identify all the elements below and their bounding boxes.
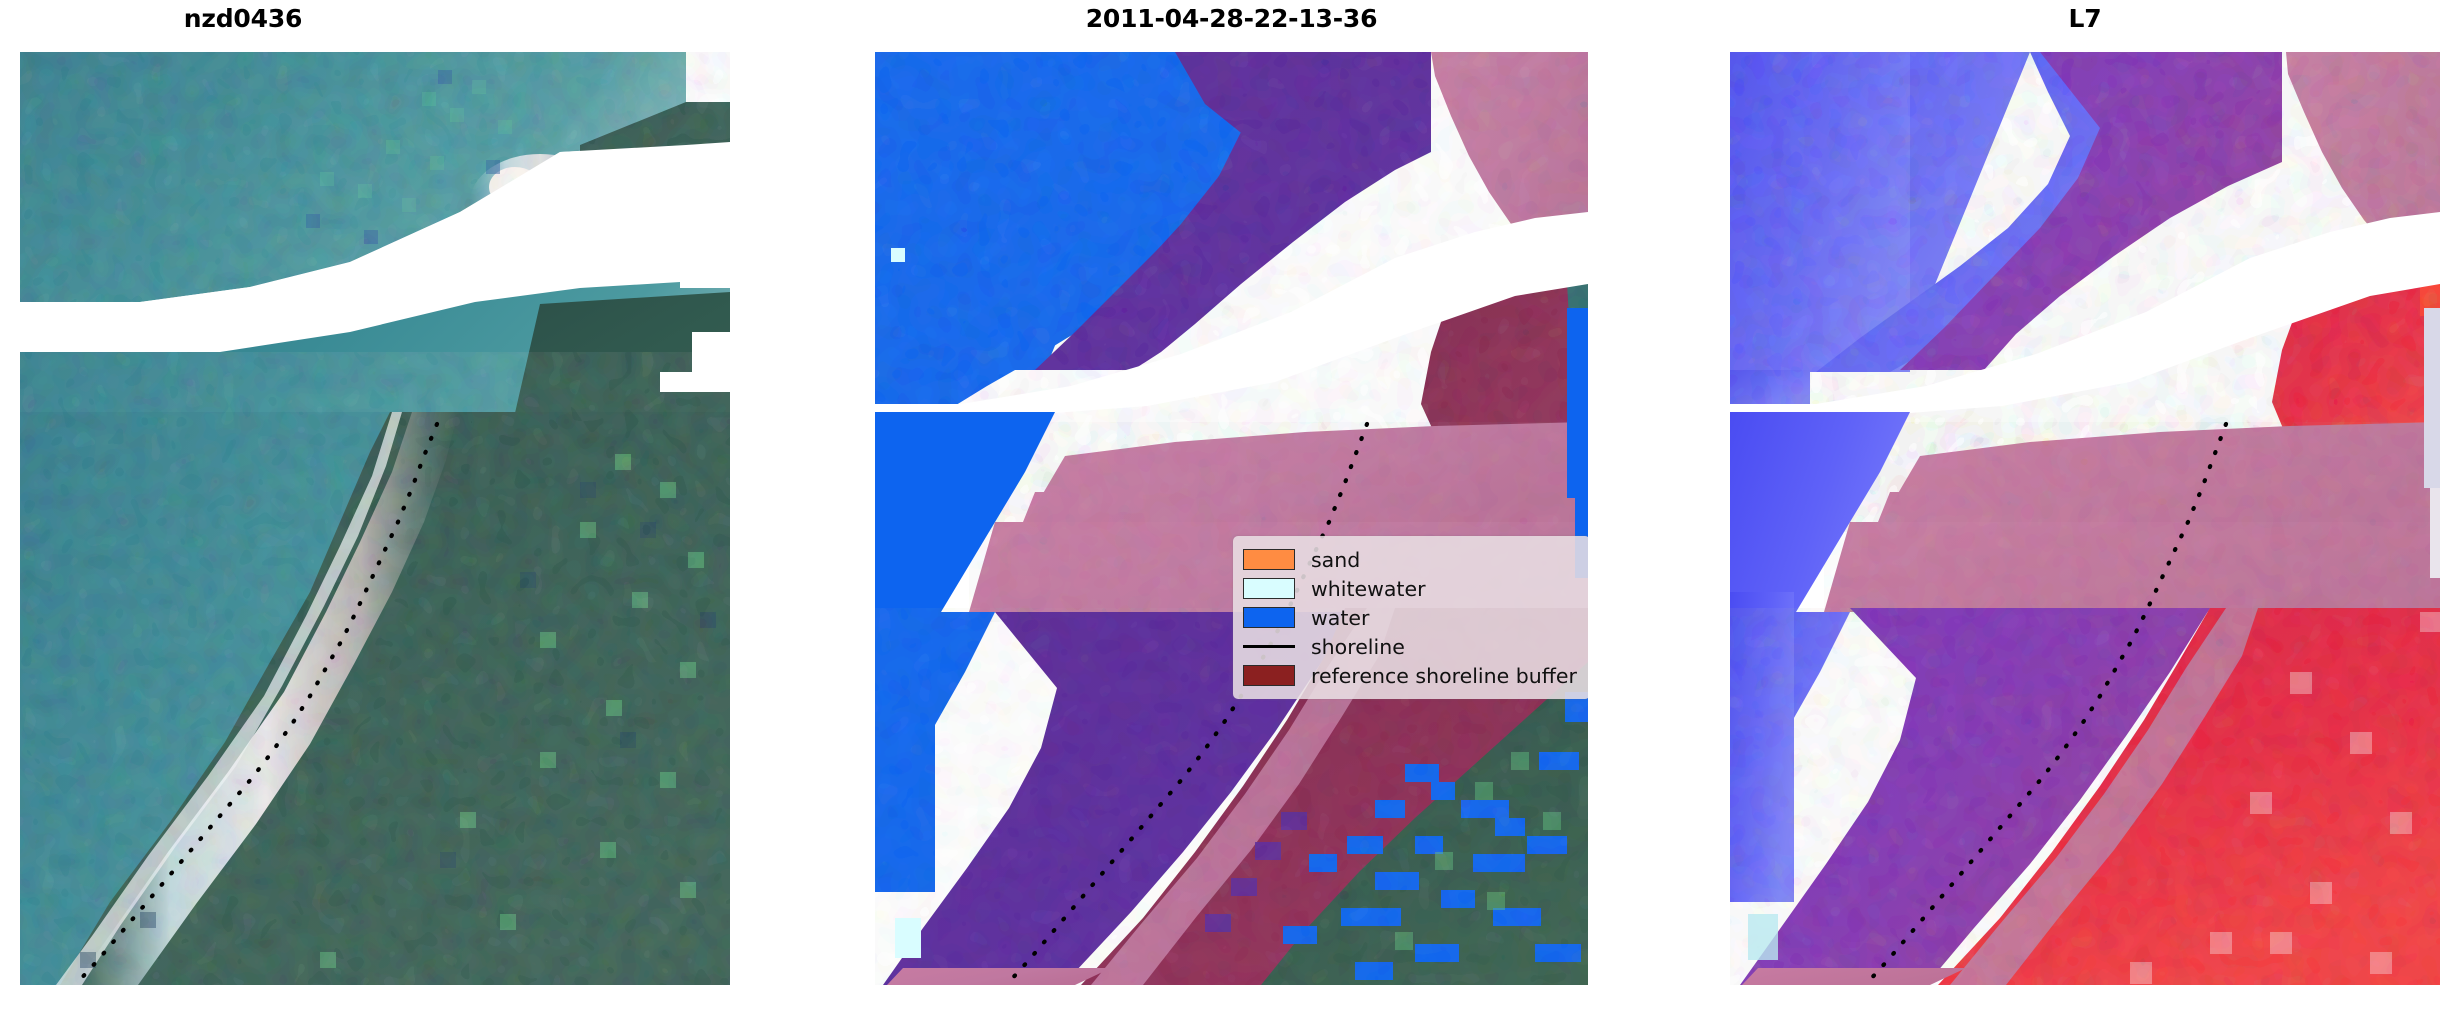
panel-index-image[interactable] [1730, 52, 2440, 985]
panel-title-classified: 2011-04-28-22-13-36 [875, 4, 1588, 33]
legend-item-whitewater[interactable]: whitewater [1243, 574, 1578, 603]
rgb-raster-container [20, 52, 730, 985]
classified-raster-container: sand whitewater water shoreline referenc… [875, 52, 1588, 985]
sand-swatch [1243, 549, 1295, 570]
whitewater-swatch [1243, 578, 1295, 599]
legend-item-water[interactable]: water [1243, 603, 1578, 632]
legend-label-water: water [1311, 606, 1369, 630]
panel-title-rgb: nzd0436 [0, 4, 486, 33]
figure-canvas: nzd0436 2011-04-28-22-13-36 L7 [0, 0, 2460, 1012]
classified-raster [875, 52, 1588, 985]
panel-classified-image[interactable]: sand whitewater water shoreline referenc… [875, 52, 1588, 985]
rgb-lower-block [20, 412, 730, 985]
buffer-band-index [1824, 422, 2440, 622]
panel-title-index: L7 [1730, 4, 2440, 33]
legend-label-sand: sand [1311, 548, 1360, 572]
whitewater-pixel-bottom [895, 918, 921, 958]
whitewater-pixel-ocean [891, 248, 905, 262]
index-raster [1730, 52, 2440, 985]
legend-label-shoreline: shoreline [1311, 635, 1405, 659]
legend-label-whitewater: whitewater [1311, 577, 1426, 601]
legend-box[interactable]: sand whitewater water shoreline referenc… [1233, 536, 1588, 699]
legend-item-reference-buffer[interactable]: reference shoreline buffer [1243, 661, 1578, 690]
legend-item-shoreline[interactable]: shoreline [1243, 632, 1578, 661]
shoreline-line [1243, 636, 1295, 657]
legend-label-reference-buffer: reference shoreline buffer [1311, 664, 1577, 688]
rgb-raster [20, 52, 730, 985]
water-swatch [1243, 607, 1295, 628]
index-raster-container [1730, 52, 2440, 985]
reference-buffer-swatch [1243, 665, 1295, 686]
legend-item-sand[interactable]: sand [1243, 545, 1578, 574]
panel-rgb-image[interactable] [20, 52, 730, 985]
